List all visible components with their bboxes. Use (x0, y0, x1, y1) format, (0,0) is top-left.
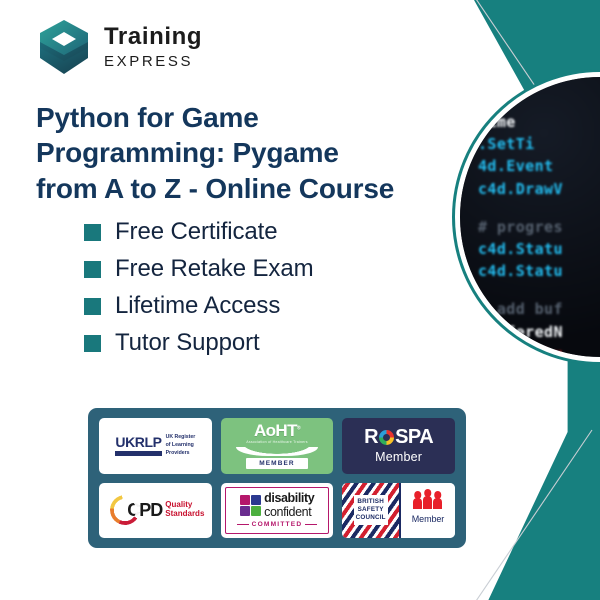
bsc-people-icon (413, 496, 442, 509)
feature-list: Free Certificate Free Retake Exam Lifeti… (84, 218, 313, 366)
feature-label: Lifetime Access (115, 292, 280, 320)
bullet-square-icon (84, 335, 101, 352)
dc-tile-person-icon (251, 506, 261, 516)
code-line: c4d.Statu (478, 260, 600, 282)
bsc-member-block: Member (401, 483, 455, 539)
code-screenshot-content: time .SetTi 4d.Event c4d.DrawV # progres… (460, 77, 600, 357)
bsc-line1: BRITISH (357, 498, 384, 505)
aoht-name: AoHT (254, 421, 297, 440)
brand-wordmark: Training EXPRESS (104, 25, 202, 69)
code-line: c4d.DrawV (478, 178, 600, 200)
dc-tile-people-icon (240, 495, 250, 505)
aoht-subtitle: Association of Healthcare Trainers (246, 440, 308, 444)
feature-label: Free Retake Exam (115, 255, 313, 283)
ukrlp-subtitle-line1: UK Register (166, 434, 196, 440)
dc-word1: disability (264, 492, 314, 505)
brand-name-line2: EXPRESS (104, 54, 202, 69)
course-title: Python for Game Programming: Pygame from… (36, 100, 456, 206)
feature-item: Lifetime Access (84, 292, 313, 320)
course-title-line1: Python for Game (36, 100, 456, 135)
bullet-square-icon (84, 224, 101, 241)
code-line: # add buf (478, 298, 600, 320)
training-express-hex-logo-icon (36, 18, 92, 76)
code-line: time (478, 111, 600, 133)
rospa-name-part2: SPA (395, 427, 433, 447)
feature-item: Free Certificate (84, 218, 313, 246)
ukrlp-subtitle-line2: of Learning (166, 442, 194, 448)
rospa-name-part1: R (364, 427, 378, 447)
rospa-member-label: Member (375, 450, 422, 464)
badge-rospa: R SPA Member (342, 418, 455, 474)
dc-word2: confident (264, 506, 314, 519)
badge-cpd: CPD Quality Standards (99, 483, 212, 539)
ukrlp-subtitle: UK Register of Learning Providers (166, 434, 196, 457)
badge-disability-confident: disability confident COMMITTED (221, 483, 334, 539)
bsc-wordmark: BRITISH SAFETY COUNCIL (354, 495, 388, 525)
aoht-logo-icon: AoHT® (254, 422, 300, 439)
feature-item: Tutor Support (84, 329, 313, 357)
aoht-superscript: ® (297, 426, 300, 432)
aoht-swoosh-icon (236, 447, 317, 456)
disability-confident-wordmark: disability confident (264, 492, 314, 519)
rospa-colour-wheel-icon (379, 430, 394, 445)
code-line: 4d.Event (478, 155, 600, 177)
feature-item: Free Retake Exam (84, 255, 313, 283)
dc-tile-chart-icon (251, 495, 261, 505)
brand-logo: Training EXPRESS (36, 18, 202, 76)
rospa-logo-icon: R SPA (364, 427, 433, 447)
aoht-member-label: MEMBER (246, 458, 308, 469)
ukrlp-logo-icon: UKRLP (115, 435, 161, 456)
bsc-flag-icon: BRITISH SAFETY COUNCIL (342, 483, 399, 539)
course-title-line3: from A to Z - Online Course (36, 171, 456, 206)
dc-tile-lock-icon (240, 506, 250, 516)
badge-ukrlp: UKRLP UK Register of Learning Providers (99, 418, 212, 474)
disability-confident-tiles-icon (240, 495, 262, 517)
code-line: .SetTi (478, 133, 600, 155)
bsc-line3: COUNCIL (356, 514, 386, 521)
course-promo-card: time .SetTi 4d.Event c4d.DrawV # progres… (0, 0, 600, 600)
dc-status-label: COMMITTED (237, 521, 318, 528)
ukrlp-bar (115, 451, 161, 456)
bsc-line2: SAFETY (358, 506, 384, 513)
ukrlp-subtitle-line3: Providers (166, 450, 190, 456)
accreditation-panel: UKRLP UK Register of Learning Providers … (88, 408, 466, 548)
code-line: # progres (478, 216, 600, 238)
cpd-subtitle: Quality Standards (165, 501, 204, 519)
badge-british-safety-council: BRITISH SAFETY COUNCIL Member (342, 483, 455, 539)
feature-label: Free Certificate (115, 218, 277, 246)
bsc-member-label: Member (412, 514, 444, 524)
feature-label: Tutor Support (115, 329, 260, 357)
code-line: if len(bu (478, 343, 600, 362)
badge-aoht: AoHT® Association of Healthcare Trainers… (221, 418, 334, 474)
code-line: bufferedN (478, 321, 600, 343)
code-screenshot-circle: time .SetTi 4d.Event c4d.DrawV # progres… (455, 72, 600, 362)
bullet-square-icon (84, 261, 101, 278)
code-line: c4d.Statu (478, 238, 600, 260)
cpd-subtitle-line2: Standards (165, 510, 204, 519)
brand-name-line1: Training (104, 25, 202, 49)
bullet-square-icon (84, 298, 101, 315)
course-title-line2: Programming: Pygame (36, 135, 456, 170)
cpd-dotted-arc-icon (110, 495, 140, 525)
ukrlp-name: UKRLP (115, 435, 161, 449)
